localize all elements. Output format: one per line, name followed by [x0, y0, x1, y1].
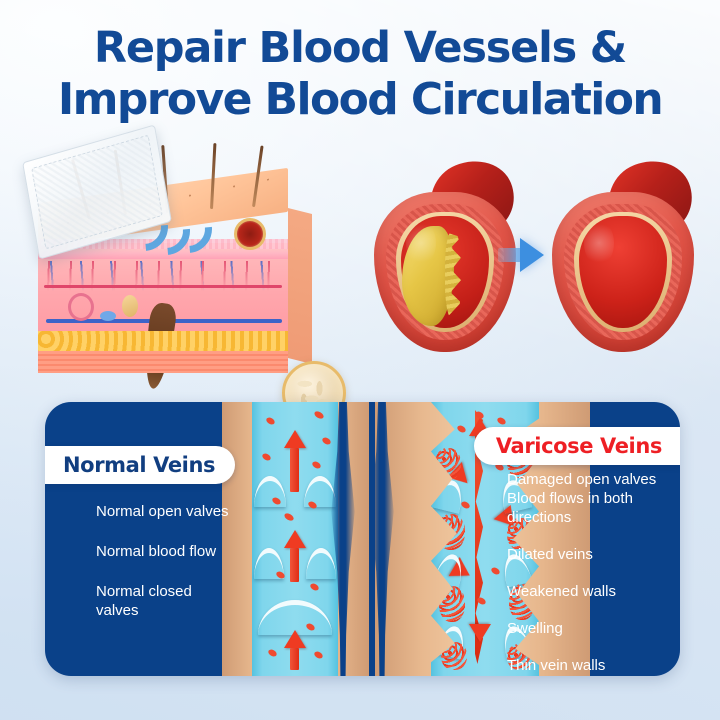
open-valve: [306, 548, 336, 579]
subcutaneous-fat-layer: [38, 331, 288, 353]
varicose-veins-badge: Varicose Veins: [474, 427, 680, 465]
red-blood-cell: [311, 460, 322, 470]
title-line-1: Repair Blood Vessels &: [94, 23, 626, 73]
skin-side-face: [288, 208, 312, 364]
list-item: Swelling: [507, 619, 675, 638]
highlight-gloss: [584, 220, 614, 266]
red-blood-cell: [496, 416, 507, 426]
list-item: Dilated veins: [507, 545, 675, 564]
muscle-layer: [38, 351, 288, 373]
red-blood-cell: [313, 410, 325, 420]
red-blood-cell: [267, 648, 278, 658]
vein-comparison-panel: Normal Veins Normal open valves Normal b…: [45, 402, 680, 676]
red-blood-cell: [265, 416, 276, 426]
vein-channel: [252, 402, 338, 676]
list-item: Normal closed valves: [96, 582, 231, 620]
red-blood-cell: [313, 650, 324, 660]
artery-red: [44, 285, 282, 288]
normal-vein-illustration: [222, 402, 369, 676]
blood-flow-stem: [290, 548, 299, 582]
sweat-gland-coil: [68, 293, 94, 321]
varicose-veins-label: Varicose Veins: [496, 434, 662, 458]
page-title: Repair Blood Vessels & Improve Blood Cir…: [0, 22, 720, 126]
list-item: Normal open valves: [96, 502, 231, 521]
blood-flow-arrow-icon: [284, 630, 306, 648]
list-item: Normal blood flow: [96, 542, 231, 561]
red-blood-cell: [309, 582, 320, 592]
blood-flow-stem: [290, 648, 299, 670]
normal-veins-badge: Normal Veins: [45, 446, 235, 484]
dermis-layer: [38, 259, 288, 333]
artery-comparison-illustration: [372, 152, 702, 380]
red-blood-cell: [321, 436, 332, 446]
normal-veins-label: Normal Veins: [63, 453, 215, 477]
red-blood-cell: [456, 424, 467, 434]
highlight-gloss: [406, 220, 436, 266]
inflamed-pore-marker: [234, 218, 266, 250]
open-valve: [254, 476, 286, 507]
infographic-canvas: Repair Blood Vessels & Improve Blood Cir…: [0, 0, 720, 720]
list-item: Damaged open valves Blood flows in both …: [507, 470, 675, 527]
red-blood-cell: [283, 512, 295, 522]
blue-right-arrow-icon: [520, 238, 544, 272]
healthy-artery: [550, 164, 700, 364]
varicose-veins-list: Damaged open valves Blood flows in both …: [507, 470, 675, 675]
sebaceous-gland: [122, 295, 138, 317]
reflux-arrow-icon: [469, 624, 491, 642]
red-blood-cell: [261, 452, 272, 462]
normal-veins-list: Normal open valves Normal blood flow Nor…: [96, 502, 231, 620]
blood-flow-arrow-icon: [284, 530, 306, 548]
red-blood-cell: [460, 500, 471, 510]
list-item: Weakened walls: [507, 582, 675, 601]
title-line-2: Improve Blood Circulation: [0, 74, 720, 126]
clogged-artery: [372, 164, 522, 364]
blood-flow-arrow-icon: [284, 430, 306, 448]
skin-cross-section-illustration: [24, 143, 374, 383]
nerve-ending: [100, 311, 116, 321]
blood-flow-stem: [290, 448, 299, 492]
list-item: Thin vein walls: [507, 656, 675, 675]
red-blood-cell: [490, 566, 501, 576]
